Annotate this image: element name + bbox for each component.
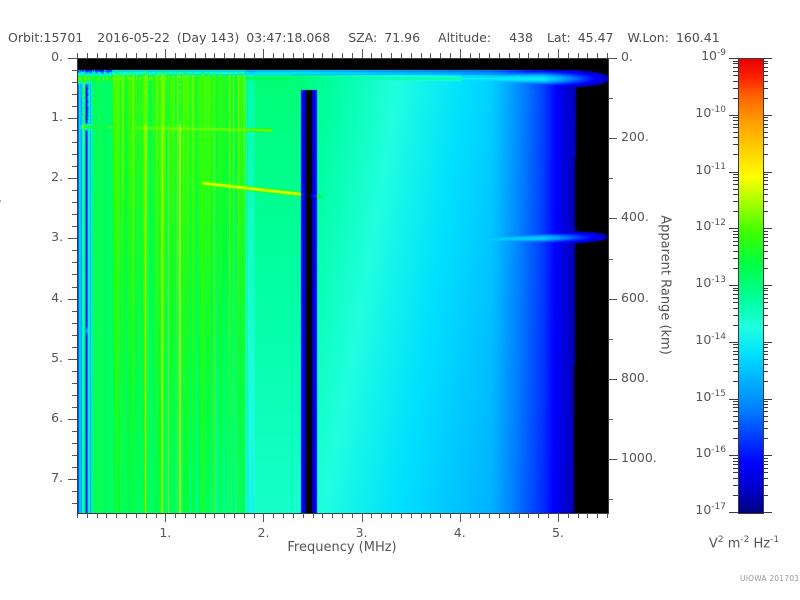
x-toptick [283,53,284,58]
colorbar-minortick [733,231,738,232]
colorbar-minortick [733,325,738,326]
x-minortick [214,513,215,518]
y-tick-left-5 [68,359,77,360]
colorbar-minortick [733,485,738,486]
x-toptick [460,49,461,58]
x-toptick [607,53,608,58]
colorbar-minortick [733,237,738,238]
colorbar-minortick [733,381,738,382]
colorbar-minortick [763,404,768,405]
colorbar-minortick [733,177,738,178]
y-ticklabel-left-5: 5. [0,350,63,365]
x-toptick [77,53,78,58]
y-ticklabel-left-0: 0. [0,49,63,64]
x-toptick [332,53,333,58]
y-minortick-left [72,226,77,227]
colorbar-minortick [763,127,768,128]
colorbar-minortick [763,294,768,295]
x-toptick [234,53,235,58]
y-minortick-left [72,287,77,288]
y-tick-right-3 [608,299,617,300]
x-ticklabel-4: 5. [538,525,578,540]
colorbar-minortick [733,144,738,145]
y-minortick-left [72,82,77,83]
x-toptick [313,53,314,58]
colorbar-tick-right-1 [763,115,772,116]
colorbar-minortick [733,127,738,128]
colorbar-minortick [763,245,768,246]
y-ticklabel-left-1: 1. [0,109,63,124]
colorbar-minortick [763,268,768,269]
colorbar-minortick [763,428,768,429]
sza-value: 71.96 [384,30,420,45]
colorbar-minortick [733,189,738,190]
colorbar-ticklabel-7: 10-16 [660,445,726,460]
colorbar-tick-right-3 [763,228,772,229]
x-minortick [578,513,579,518]
x-minortick [106,513,107,518]
colorbar-tick-left-0 [729,58,738,59]
x-minortick [411,513,412,518]
wlon-value: 160.41 [676,30,720,45]
colorbar-tick-left-6 [729,399,738,400]
x-toptick [362,49,363,58]
colorbar-minortick [763,120,768,121]
y-minortick-left [72,455,77,456]
colorbar-minortick [763,421,768,422]
colorbar-minortick [763,231,768,232]
colorbar-minortick [733,71,738,72]
x-tick-2 [362,513,363,522]
x-toptick [411,53,412,58]
x-minortick [381,513,382,518]
unit-hz: Hz [749,536,770,551]
colorbar-minortick [733,495,738,496]
y-tick-left-2 [68,178,77,179]
y-minortick-left [72,503,77,504]
colorbar-tick-right-5 [763,342,772,343]
sza-label: SZA: [348,30,377,45]
x-minortick [175,513,176,518]
colorbar-minortick [733,234,738,235]
colorbar-minortick [733,120,738,121]
lat-label: Lat: [547,30,571,45]
colorbar-minortick [763,302,768,303]
colorbar-minortick [763,315,768,316]
colorbar-minortick [763,371,768,372]
colorbar-minortick [763,180,768,181]
y-ticklabel-left-3: 3. [0,229,63,244]
unit-v: V [709,536,718,551]
colorbar-tick-right-4 [763,285,772,286]
colorbar-tick-left-7 [729,455,738,456]
x-toptick [254,53,255,58]
x-minortick [205,513,206,518]
colorbar-minortick [763,71,768,72]
colorbar-minortick [733,421,738,422]
x-minortick [234,513,235,518]
colorbar-minortick [733,359,738,360]
x-toptick [528,53,529,58]
x-toptick [401,53,402,58]
x-minortick [430,513,431,518]
colorbar-minortick [763,461,768,462]
y-minortick-left [72,70,77,71]
y-tick-left-0 [68,58,77,59]
wlon-label: W.Lon: [628,30,669,45]
colorbar-minortick [733,61,738,62]
colorbar-minortick [733,404,738,405]
colorbar-tick-right-6 [763,399,772,400]
colorbar-ticklabel-0: 10-9 [660,48,726,63]
day-of-year: (Day 143) [177,30,239,45]
colorbar-minortick [763,347,768,348]
colorbar-minortick [733,211,738,212]
x-toptick [519,53,520,58]
colorbar-minortick [733,201,738,202]
y-tick-right-1 [608,138,617,139]
colorbar-minortick [763,177,768,178]
colorbar-minortick [763,184,768,185]
x-minortick [499,513,500,518]
y-tick-left-4 [68,299,77,300]
y-minortick-right [608,339,613,340]
colorbar-minortick [763,411,768,412]
x-toptick [146,53,147,58]
x-toptick [479,53,480,58]
x-toptick [273,53,274,58]
orbit-value: 15701 [44,30,84,45]
unit-m: m [724,536,741,551]
colorbar-minortick [733,347,738,348]
colorbar-minortick [733,407,738,408]
x-toptick [106,53,107,58]
x-minortick [371,513,372,518]
x-toptick [352,53,353,58]
credit-text: UIOWA 20170315 [740,574,800,583]
y-minortick-right [608,178,613,179]
colorbar-minortick [763,288,768,289]
colorbar-minortick [733,154,738,155]
y-minortick-left [72,106,77,107]
colorbar-minortick [763,401,768,402]
colorbar-minortick [763,472,768,473]
colorbar-minortick [763,132,768,133]
x-ticklabel-1: 2. [243,525,283,540]
colorbar-minortick [733,290,738,291]
x-toptick [509,53,510,58]
x-minortick [77,513,78,518]
colorbar-tick-right-8 [763,512,772,513]
colorbar-minortick [763,144,768,145]
colorbar-minortick [763,381,768,382]
y-tick-right-2 [608,218,617,219]
x-minortick [401,513,402,518]
colorbar-minortick [733,411,738,412]
colorbar-minortick [763,241,768,242]
x-ticklabel-2: 3. [342,525,382,540]
x-minortick [156,513,157,518]
colorbar-minortick [733,180,738,181]
colorbar-minortick [733,258,738,259]
y-minortick-left [72,94,77,95]
colorbar-minortick [733,124,738,125]
x-toptick [244,53,245,58]
colorbar-tick-left-1 [729,115,738,116]
x-minortick [293,513,294,518]
y-minortick-left [72,335,77,336]
x-minortick [479,513,480,518]
x-toptick [597,53,598,58]
y-ticklabel-right-2: 400. [621,209,649,224]
x-minortick [509,513,510,518]
colorbar-minortick [733,174,738,175]
colorbar-minortick [763,344,768,345]
colorbar-minortick [763,359,768,360]
colorbar-minortick [763,325,768,326]
y-minortick-left [72,250,77,251]
colorbar-tick-left-2 [729,172,738,173]
x-minortick [254,513,255,518]
x-minortick [489,513,490,518]
x-minortick [421,513,422,518]
y-minortick-left [72,467,77,468]
x-minortick [587,513,588,518]
x-tick-4 [558,513,559,522]
x-minortick [470,513,471,518]
x-toptick [342,53,343,58]
colorbar-minortick [763,416,768,417]
x-toptick [558,49,559,58]
colorbar-minortick [763,354,768,355]
y-minortick-left [72,154,77,155]
y-minortick-left [72,491,77,492]
colorbar-minortick [733,63,738,64]
x-toptick [185,53,186,58]
colorbar-minortick [763,189,768,190]
colorbar-ticklabel-5: 10-14 [660,332,726,347]
colorbar-minortick [763,495,768,496]
colorbar-minortick [763,154,768,155]
colorbar-minortick [763,234,768,235]
colorbar-minortick [763,61,768,62]
x-toptick [126,53,127,58]
colorbar-minortick [733,416,738,417]
x-minortick [538,513,539,518]
y-minortick-left [72,383,77,384]
colorbar-minortick [733,371,738,372]
colorbar-minortick [733,364,738,365]
x-toptick [205,53,206,58]
colorbar-minortick [763,308,768,309]
colorbar-ticklabel-8: 10-17 [660,502,726,517]
colorbar-minortick [763,468,768,469]
colorbar-minortick [733,294,738,295]
colorbar-unit-label: V2 m-2 Hz-1 [688,535,800,551]
colorbar-minortick [763,438,768,439]
colorbar-minortick [733,354,738,355]
x-minortick [332,513,333,518]
y-minortick-left [72,130,77,131]
colorbar-minortick [733,184,738,185]
unit-exp-hz1: -1 [770,535,779,545]
y-minortick-right [608,259,613,260]
colorbar-minortick [763,258,768,259]
colorbar-tick-left-4 [729,285,738,286]
x-axis-label: Frequency (MHz) [77,540,607,555]
colorbar-minortick [763,124,768,125]
x-minortick [342,513,343,518]
colorbar-minortick [763,201,768,202]
x-minortick [528,513,529,518]
x-toptick [156,53,157,58]
y-ticklabel-right-4: 800. [621,370,649,385]
colorbar-tick-right-0 [763,58,772,59]
y-minortick-left [72,371,77,372]
x-toptick [224,53,225,58]
colorbar-ticklabel-3: 10-12 [660,218,726,233]
colorbar-ticklabel-6: 10-15 [660,389,726,404]
x-toptick [381,53,382,58]
x-minortick [519,513,520,518]
colorbar-tick-right-7 [763,455,772,456]
unit-exp-m2: -2 [740,535,749,545]
y-ticklabel-right-5: 1000. [621,450,657,465]
x-toptick [430,53,431,58]
colorbar-minortick [763,98,768,99]
y-ticklabel-left-6: 6. [0,410,63,425]
colorbar-minortick [733,98,738,99]
colorbar-minortick [733,268,738,269]
x-toptick [470,53,471,58]
colorbar-minortick [763,67,768,68]
y-tick-left-6 [68,419,77,420]
x-minortick [244,513,245,518]
colorbar-minortick [763,351,768,352]
x-toptick [303,53,304,58]
colorbar-ticklabel-2: 10-11 [660,162,726,177]
colorbar-minortick [763,194,768,195]
colorbar-minortick [733,288,738,289]
colorbar-minortick [733,117,738,118]
x-minortick [322,513,323,518]
colorbar-minortick [763,137,768,138]
colorbar-minortick [763,407,768,408]
x-minortick [313,513,314,518]
colorbar-minortick [763,251,768,252]
x-minortick [87,513,88,518]
orbit-label: Orbit: [8,30,44,45]
x-toptick [263,49,264,58]
colorbar [738,58,764,514]
y-axis-label-left: Time Delay (ms) [0,115,2,315]
colorbar-minortick [733,67,738,68]
x-toptick [450,53,451,58]
x-toptick [214,53,215,58]
x-toptick [175,53,176,58]
colorbar-minortick [733,461,738,462]
y-minortick-left [72,431,77,432]
x-toptick [195,53,196,58]
y-minortick-left [72,311,77,312]
colorbar-minortick [733,478,738,479]
colorbar-minortick [733,351,738,352]
colorbar-minortick [733,464,738,465]
y-ticklabel-left-7: 7. [0,470,63,485]
x-minortick [568,513,569,518]
colorbar-minortick [733,302,738,303]
x-toptick [421,53,422,58]
x-minortick [185,513,186,518]
altitude-label: Altitude: [438,30,491,45]
y-ticklabel-right-0: 0. [621,49,633,64]
colorbar-minortick [763,174,768,175]
y-ticklabel-left-4: 4. [0,290,63,305]
colorbar-minortick [763,75,768,76]
observation-time: 03:47:18.068 [246,30,330,45]
y-minortick-left [72,166,77,167]
x-minortick [450,513,451,518]
x-toptick [578,53,579,58]
x-toptick [322,53,323,58]
x-toptick [165,49,166,58]
colorbar-minortick [763,298,768,299]
colorbar-minortick [733,468,738,469]
y-minortick-right [608,98,613,99]
colorbar-ticklabel-1: 10-10 [660,105,726,120]
x-toptick [87,53,88,58]
colorbar-minortick [733,241,738,242]
y-minortick-left [72,214,77,215]
x-toptick [489,53,490,58]
colorbar-minortick [763,211,768,212]
y-minortick-left [72,202,77,203]
y-minortick-left [72,347,77,348]
x-minortick [607,513,608,518]
colorbar-tick-right-2 [763,172,772,173]
colorbar-tick-left-8 [729,512,738,513]
colorbar-minortick [733,458,738,459]
y-minortick-right [608,419,613,420]
colorbar-minortick [733,194,738,195]
y-minortick-left [72,142,77,143]
x-minortick [116,513,117,518]
x-minortick [195,513,196,518]
x-minortick [224,513,225,518]
x-minortick [146,513,147,518]
colorbar-minortick [733,245,738,246]
colorbar-minortick [733,298,738,299]
ionogram-figure: Orbit:157012016-05-22(Day 143)03:47:18.0… [0,0,800,600]
colorbar-minortick [763,117,768,118]
x-minortick [548,513,549,518]
y-minortick-left [72,274,77,275]
colorbar-minortick [733,344,738,345]
colorbar-minortick [763,478,768,479]
y-minortick-left [72,407,77,408]
y-ticklabel-right-3: 600. [621,290,649,305]
y-tick-right-5 [608,459,617,460]
y-ticklabel-right-1: 200. [621,129,649,144]
colorbar-minortick [763,464,768,465]
colorbar-minortick [733,88,738,89]
spectrogram-image [78,59,608,513]
colorbar-tick-left-5 [729,342,738,343]
colorbar-minortick [733,132,738,133]
y-minortick-left [72,262,77,263]
y-minortick-left [72,190,77,191]
x-ticklabel-3: 4. [440,525,480,540]
